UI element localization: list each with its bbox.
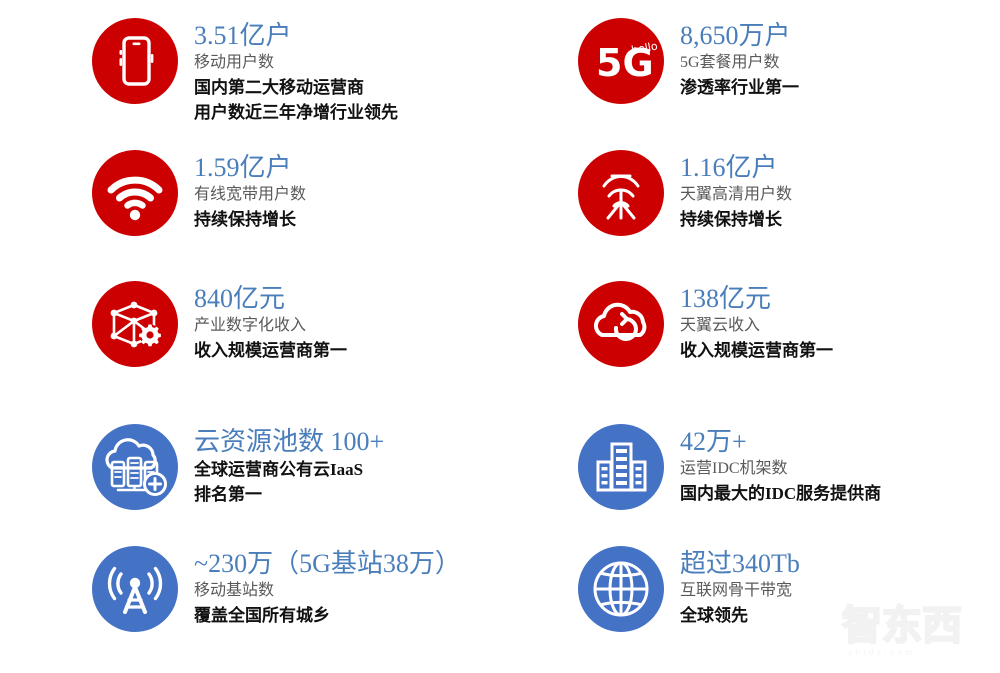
stat-card-5g-package-subscribers: 5G hello 8,650万户 5G套餐用户数 渗透率行业第一 (578, 18, 799, 104)
stat-bold-line: 国内最大的IDC服务提供商 (680, 481, 881, 506)
stat-text-block: 42万+ 运营IDC机架数 国内最大的IDC服务提供商 (680, 424, 881, 506)
stat-headline: 138亿元 (680, 283, 833, 314)
stat-bold-line: 用户数近三年净增行业领先 (194, 100, 398, 125)
infographic-board: 3.51亿户 移动用户数 国内第二大移动运营商 用户数近三年净增行业领先 1.5… (0, 0, 1000, 673)
hd-signal-icon (578, 150, 664, 236)
stat-bold-line: 排名第一 (194, 482, 384, 507)
stat-subtitle: 天翼云收入 (680, 314, 833, 338)
stat-bold-line: 覆盖全国所有城乡 (194, 603, 461, 628)
stat-bold-line: 渗透率行业第一 (680, 75, 799, 100)
stat-headline: 超过340Tb (680, 548, 800, 579)
stat-headline: 840亿元 (194, 283, 347, 314)
stat-text-block: 3.51亿户 移动用户数 国内第二大移动运营商 用户数近三年净增行业领先 (194, 18, 398, 125)
stat-card-mobile-subscribers: 3.51亿户 移动用户数 国内第二大移动运营商 用户数近三年净增行业领先 (92, 18, 398, 125)
stat-headline: 云资源池数 100+ (194, 426, 384, 457)
stat-text-block: 云资源池数 100+ 全球运营商公有云IaaS 排名第一 (194, 424, 384, 507)
cloud-servers-plus-icon (92, 424, 178, 510)
stat-text-block: 840亿元 产业数字化收入 收入规模运营商第一 (194, 281, 347, 363)
stat-bold-line: 收入规模运营商第一 (194, 338, 347, 363)
stat-card-tianyi-hd-subscribers: 1.16亿户 天翼高清用户数 持续保持增长 (578, 150, 792, 236)
stat-text-block: 8,650万户 5G套餐用户数 渗透率行业第一 (680, 18, 799, 100)
datacenter-buildings-icon (578, 424, 664, 510)
wifi-icon (92, 150, 178, 236)
left-column: 3.51亿户 移动用户数 国内第二大移动运营商 用户数近三年净增行业领先 1.5… (0, 0, 500, 673)
stat-bold-line: 全球运营商公有云IaaS (194, 457, 384, 482)
stat-card-industrial-digital-revenue: 840亿元 产业数字化收入 收入规模运营商第一 (92, 281, 347, 367)
smartphone-icon (92, 18, 178, 104)
stat-bold-line: 收入规模运营商第一 (680, 338, 833, 363)
stat-headline: 1.59亿户 (194, 152, 306, 183)
stat-subtitle: 天翼高清用户数 (680, 183, 792, 207)
stat-card-wireline-broadband: 1.59亿户 有线宽带用户数 持续保持增长 (92, 150, 306, 236)
stat-headline: 3.51亿户 (194, 20, 398, 51)
stat-text-block: 超过340Tb 互联网骨干带宽 全球领先 (680, 546, 800, 628)
stat-subtitle: 运营IDC机架数 (680, 457, 881, 481)
stat-card-internet-backbone-bandwidth: 超过340Tb 互联网骨干带宽 全球领先 (578, 546, 800, 632)
stat-subtitle: 产业数字化收入 (194, 314, 347, 338)
stat-headline: 8,650万户 (680, 20, 799, 51)
stat-subtitle: 有线宽带用户数 (194, 183, 306, 207)
stat-text-block: 138亿元 天翼云收入 收入规模运营商第一 (680, 281, 833, 363)
5g-hello-icon: 5G hello (578, 18, 664, 104)
stat-headline: 42万+ (680, 426, 881, 457)
stat-bold-line: 持续保持增长 (194, 207, 306, 232)
stat-text-block: 1.16亿户 天翼高清用户数 持续保持增长 (680, 150, 792, 232)
stat-subtitle: 移动用户数 (194, 51, 398, 75)
right-column: 5G hello 8,650万户 5G套餐用户数 渗透率行业第一 (500, 0, 1000, 673)
cloud-sync-icon (578, 281, 664, 367)
globe-icon (578, 546, 664, 632)
stat-bold-line: 全球领先 (680, 603, 800, 628)
stat-card-cloud-resource-pools: 云资源池数 100+ 全球运营商公有云IaaS 排名第一 (92, 424, 384, 510)
stat-subtitle: 互联网骨干带宽 (680, 579, 800, 603)
stat-headline: 1.16亿户 (680, 152, 792, 183)
cell-tower-icon (92, 546, 178, 632)
stat-bold-line: 持续保持增长 (680, 207, 792, 232)
stat-headline: ~230万（5G基站38万） (194, 548, 461, 579)
stat-card-tianyi-cloud-revenue: 138亿元 天翼云收入 收入规模运营商第一 (578, 281, 833, 367)
network-cube-gear-icon (92, 281, 178, 367)
stat-subtitle: 移动基站数 (194, 579, 461, 603)
stat-text-block: ~230万（5G基站38万） 移动基站数 覆盖全国所有城乡 (194, 546, 461, 628)
stat-subtitle: 5G套餐用户数 (680, 51, 799, 75)
stat-text-block: 1.59亿户 有线宽带用户数 持续保持增长 (194, 150, 306, 232)
stat-card-idc-racks: 42万+ 运营IDC机架数 国内最大的IDC服务提供商 (578, 424, 881, 510)
stat-bold-line: 国内第二大移动运营商 (194, 75, 398, 100)
stat-card-mobile-base-stations: ~230万（5G基站38万） 移动基站数 覆盖全国所有城乡 (92, 546, 461, 632)
